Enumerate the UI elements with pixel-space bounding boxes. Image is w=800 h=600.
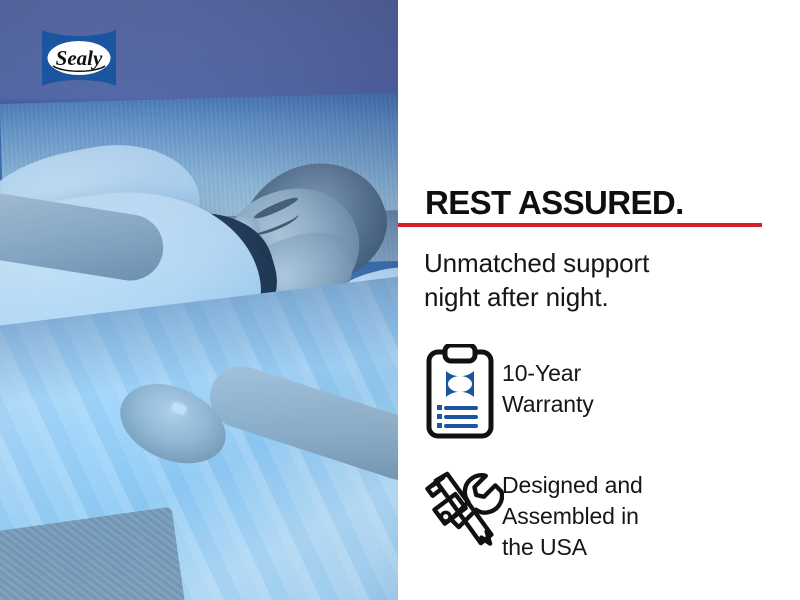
clipboard-text-lines [446, 408, 476, 426]
feature-warranty-label-line-2: Warranty [502, 389, 732, 420]
photo-night-tint [0, 0, 398, 600]
feature-usa-label-line-3: the USA [502, 532, 732, 563]
subheadline-line-2: night after night. [424, 280, 754, 314]
subheadline-line-1: Unmatched support [424, 246, 754, 280]
feature-made-in-usa: Designed and Assembled in the USA [424, 462, 732, 563]
feature-warranty: 10-Year Warranty [424, 344, 732, 440]
pencil-eraser [427, 482, 441, 496]
subheadline: Unmatched support night after night. [424, 246, 754, 314]
feature-usa-label: Designed and Assembled in the USA [502, 462, 732, 563]
clipboard-warranty-icon [424, 344, 502, 440]
clipboard-clip [445, 345, 475, 361]
feature-warranty-label-line-1: 10-Year [502, 358, 732, 389]
feature-warranty-label: 10-Year Warranty [502, 344, 732, 420]
feature-usa-label-line-1: Designed and [502, 470, 732, 501]
pencil-wrench-icon [424, 462, 502, 558]
clipboard-sealy-ellipse [448, 376, 472, 392]
clipboard-bullets [437, 405, 442, 428]
sleeping-couple-night-photo: Sealy [0, 0, 398, 600]
feature-usa-label-line-2: Assembled in [502, 501, 732, 532]
message-panel: REST ASSURED. Unmatched support night af… [398, 0, 800, 600]
sealy-wordmark: Sealy [56, 46, 103, 70]
sealy-logo: Sealy [40, 27, 118, 89]
red-divider-rule [398, 223, 762, 227]
sealy-rest-assured-ad: Sealy REST ASSURED. Unmatched support ni… [0, 0, 800, 600]
page-title: REST ASSURED. [425, 185, 684, 221]
